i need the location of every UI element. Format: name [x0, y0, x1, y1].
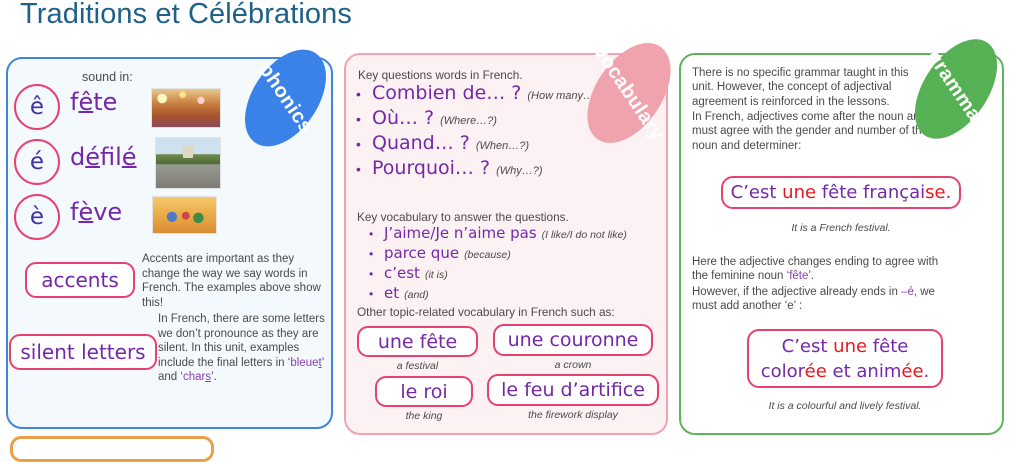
accent-circle-circumflex: ê	[14, 84, 60, 130]
vocab-lead-other: Other topic-related vocabulary in French…	[357, 305, 615, 319]
accents-term-box: accents	[25, 262, 135, 298]
silent-letters-term-box: silent letters	[9, 334, 157, 370]
bullet-icon: •	[369, 267, 384, 281]
vocab-caption-the-king: the king	[375, 410, 473, 422]
bullet-icon: •	[356, 136, 372, 152]
vocab-word-box-une-couronne: une couronne	[493, 324, 653, 356]
grammar-paragraph-3: Here the adjective changes ending to agr…	[692, 255, 957, 284]
vocab-word-box-le-feu-dartifice: le feu d’artifice	[487, 374, 659, 406]
badge-phonics-label: phonics	[254, 59, 318, 138]
badge-vocabulary-label: vocabulary	[589, 41, 669, 145]
grammar-paragraph-4: However, if the adjective already ends i…	[692, 285, 957, 314]
list-item: •et(and)	[369, 284, 659, 302]
badge-grammar-label: grammar	[922, 46, 991, 132]
vocab-word-box-une-fete: une fête	[357, 326, 478, 357]
vocab-lead-questions: Key questions words in French.	[358, 68, 523, 82]
vocab-word-box-le-roi: le roi	[375, 376, 473, 407]
bullet-icon: •	[356, 111, 372, 127]
infographic-page: Traditions et Célébrations sound in: ê é…	[0, 0, 1010, 446]
phonics-word-fete: fête	[70, 88, 117, 116]
bullet-icon: •	[369, 287, 384, 301]
grammar-paragraph-1: There is no specific grammar taught in t…	[692, 66, 917, 109]
vocab-caption-a-crown: a crown	[493, 359, 653, 371]
silent-letters-note: In French, there are some letters we don…	[158, 312, 328, 385]
phonics-word-defile: défilé	[70, 143, 137, 171]
vocab-lead-answers: Key vocabulary to answer the questions.	[357, 210, 569, 224]
list-item: •J’aime/Je n’aime pas(I like/I do not li…	[369, 224, 659, 242]
grammar-example-box-2: C’est une fêtecolorée et animée.	[747, 329, 943, 388]
answer-vocabulary-list: •J’aime/Je n’aime pas(I like/I do not li…	[369, 224, 659, 304]
list-item: •Pourquoi… ?(Why…?)	[356, 157, 656, 179]
list-item: •c’est(it is)	[369, 264, 659, 282]
bullet-icon: •	[369, 247, 384, 261]
grammar-example-box-1: C’est une fête française.	[721, 176, 961, 209]
bullet-icon: •	[356, 161, 372, 177]
parade-arc-de-triomphe-photo	[155, 137, 221, 189]
accent-circle-grave: è	[14, 194, 60, 240]
carnival-photo	[151, 88, 221, 128]
page-title: Traditions et Célébrations	[20, 0, 352, 31]
accents-note: Accents are important as they change the…	[142, 252, 322, 310]
phonics-word-feve: fève	[70, 198, 122, 226]
vocab-caption-a-festival: a festival	[357, 360, 478, 372]
bullet-icon: •	[369, 227, 384, 241]
sound-in-label: sound in:	[82, 70, 133, 84]
vocab-caption-firework-display: the firework display	[487, 409, 659, 421]
galette-des-rois-photo	[152, 196, 217, 234]
grammar-example-caption-2: It is a colourful and lively festival.	[715, 400, 975, 412]
grammar-paragraph-2: In French, adjectives come after the nou…	[692, 110, 942, 153]
bullet-icon: •	[356, 86, 372, 102]
list-item: •parce que(because)	[369, 244, 659, 262]
accent-circle-acute: é	[14, 139, 60, 185]
bottom-orange-box	[10, 436, 214, 462]
grammar-example-caption-1: It is a French festival.	[721, 222, 961, 234]
